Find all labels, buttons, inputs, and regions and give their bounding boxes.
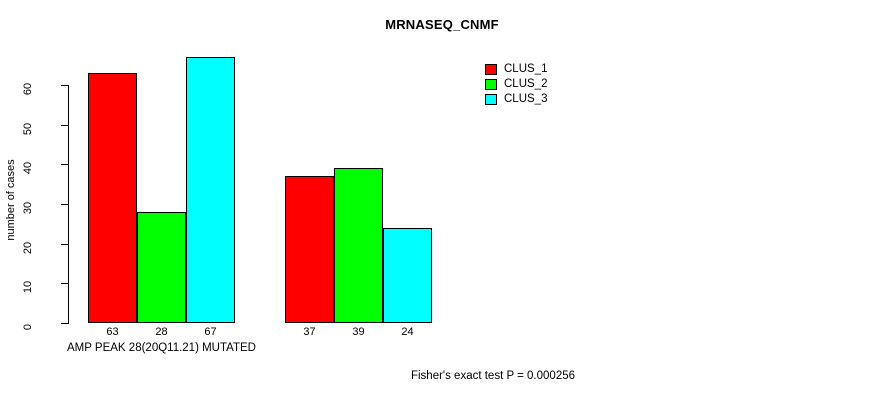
y-axis-tick-label: 10	[0, 277, 57, 289]
bar-count-label: 63	[88, 326, 137, 338]
x-axis-group-label-0: AMP PEAK 28(20Q11.21) MUTATED	[0, 342, 362, 355]
bar-clus-2-group-0	[137, 212, 186, 323]
chart-title-text: MRNASEQ_CNMF	[385, 17, 499, 32]
bar-clus-1-group-0	[88, 73, 137, 323]
bar-clus-2-group-1	[334, 168, 383, 323]
legend-label-clus-2: CLUS_2	[504, 77, 547, 92]
y-axis-tick	[61, 204, 68, 205]
bar-count-label: 39	[334, 326, 383, 338]
y-axis-tick-label-text: 30	[23, 202, 35, 214]
legend-swatch-clus-1	[485, 64, 497, 75]
y-axis-tick-label: 60	[0, 79, 57, 91]
y-axis-tick-label-text: 40	[23, 162, 35, 174]
y-axis-tick	[61, 244, 68, 245]
legend-label-clus-3: CLUS_3	[504, 92, 547, 107]
y-axis-tick-label-text: 0	[23, 324, 35, 330]
y-axis-line	[68, 85, 69, 324]
y-axis-tick-label: 0	[0, 317, 57, 329]
y-axis-tick-label: 50	[0, 119, 57, 131]
y-axis-tick	[61, 85, 68, 86]
bar-clus-1-group-1	[285, 176, 334, 323]
y-axis-title-text: number of cases	[5, 159, 17, 240]
y-axis-tick	[61, 323, 68, 324]
y-axis-tick	[61, 283, 68, 284]
y-axis-title: number of cases	[2, 140, 20, 260]
y-axis-tick	[61, 164, 68, 165]
bar-chart: MRNASEQ_CNMF 0102030405060 number of cas…	[0, 0, 890, 400]
bar-count-label: 28	[137, 326, 186, 338]
fisher-test-annotation: Fisher's exact test P = 0.000256	[258, 370, 728, 382]
y-axis-tick-label-text: 20	[23, 242, 35, 254]
bar-count-label: 67	[186, 326, 235, 338]
legend-label-clus-1: CLUS_1	[504, 62, 547, 77]
y-axis-tick-label-text: 60	[23, 83, 35, 95]
bar-count-label: 37	[285, 326, 334, 338]
legend-swatch-clus-3	[485, 94, 497, 105]
chart-title: MRNASEQ_CNMF	[0, 17, 890, 32]
bar-clus-3-group-0	[186, 57, 235, 323]
y-axis-tick-label-text: 50	[23, 123, 35, 135]
legend-swatch-clus-2	[485, 79, 497, 90]
bar-count-label: 24	[383, 326, 432, 338]
bar-clus-3-group-1	[383, 228, 432, 323]
y-axis-tick-label-text: 10	[23, 281, 35, 293]
y-axis-tick	[61, 125, 68, 126]
